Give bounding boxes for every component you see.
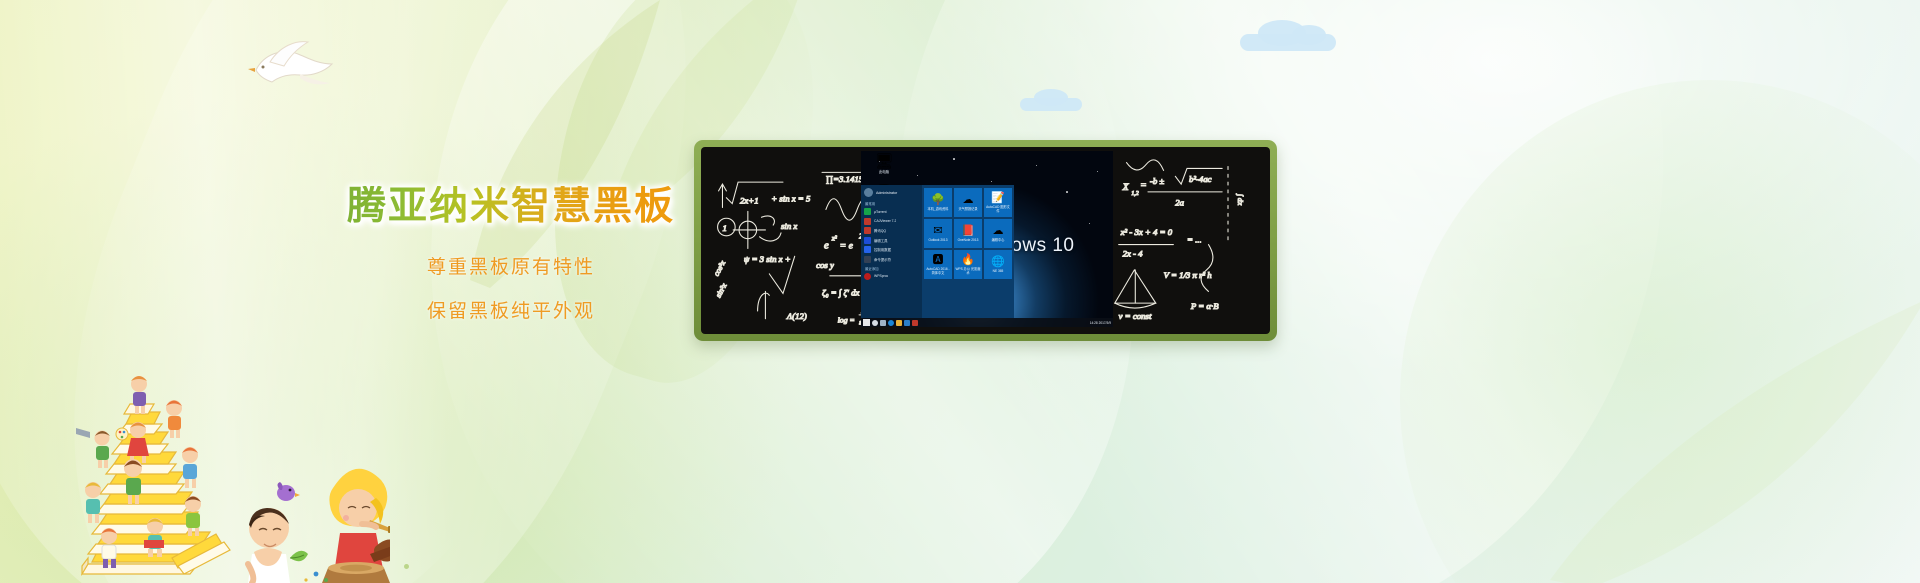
tile-glyph: ☁ — [993, 226, 1004, 237]
app-icon — [864, 208, 871, 215]
blackboard-screen: 2x+1 + sin x = 5 1 sin x cos²x sin²x ψ =… — [701, 147, 1270, 334]
mail-icon[interactable] — [912, 320, 918, 326]
windows-desktop: 🖥 此电脑 🗑 回收站 Windows 10 Administrator — [861, 151, 1113, 327]
tile-label: 天气预报记录 — [957, 207, 978, 211]
store-icon[interactable] — [904, 320, 910, 326]
svg-text:+ sin x = 5: + sin x = 5 — [771, 194, 811, 204]
kid-flutist — [322, 469, 390, 583]
start-menu-app-list: Administrator 最常用 µTorrent CAJViewer 7.2 — [861, 185, 922, 318]
tile-label: 编辑中心 — [991, 238, 1006, 242]
svg-text:log =: log = — [838, 316, 855, 325]
svg-text:v = const: v = const — [1119, 311, 1152, 321]
start-app-item[interactable]: CAJViewer 7.2 — [864, 218, 920, 225]
start-menu-tiles: 🌳 本机_游戏资料 ☁ 天气预报记录 📝 AutoCAD 图形文件 ✉ — [922, 185, 1014, 318]
app-group-title-1: 最近添加 — [865, 266, 920, 271]
svg-text:2a: 2a — [1175, 198, 1184, 208]
start-tile[interactable]: 🌐 NE 365 — [984, 250, 1012, 279]
svg-text:= e: = e — [840, 240, 854, 251]
app-label: 腾讯QQ — [874, 228, 886, 233]
promo-banner: 腾亚纳米智慧黑板 尊重黑板原有特性 保留黑板纯平外观 2x+1 + sin x … — [0, 0, 1920, 583]
tile-label: AutoCAD 图形文件 — [984, 205, 1012, 213]
svg-text:1: 1 — [722, 223, 726, 233]
dove-icon — [246, 34, 338, 90]
app-label: 命令提示符 — [874, 257, 891, 262]
computer-icon[interactable]: 🖥 此电脑 — [864, 153, 904, 175]
computer-glyph: 🖥 — [864, 153, 904, 170]
start-tile[interactable]: 🅰 AutoCAD 2016 - 简体中文 — [924, 250, 952, 279]
svg-text:2x - 4: 2x - 4 — [1123, 248, 1144, 258]
tile-glyph: 🌐 — [991, 257, 1005, 268]
tile-glyph: 🔥 — [961, 255, 975, 266]
svg-text:x² - 3x + 4 = 0: x² - 3x + 4 = 0 — [1120, 227, 1173, 237]
tile-label: OneNote 2013 — [957, 238, 980, 242]
subtitle-line-1: 尊重黑板原有特性 — [336, 257, 686, 280]
search-icon[interactable] — [872, 320, 878, 326]
app-label: 编辑工具 — [874, 238, 888, 243]
app-icon — [864, 218, 871, 225]
explorer-icon[interactable] — [896, 320, 902, 326]
tile-glyph: ☁ — [963, 195, 974, 206]
tile-glyph: ✉ — [933, 226, 942, 237]
svg-text:P = α·B: P = α·B — [1190, 301, 1219, 311]
tile-glyph: 🌳 — [931, 195, 945, 206]
kid-resting — [248, 508, 290, 583]
start-app-item[interactable]: µTorrent — [864, 208, 920, 215]
leaf-shape-right — [1550, 260, 1920, 583]
tile-label: WPS 办公 光影魔术 — [954, 267, 982, 275]
task-view-icon[interactable] — [880, 320, 886, 326]
account-name: Administrator — [876, 191, 897, 195]
svg-text:X: X — [1122, 182, 1130, 193]
decor-dot — [314, 572, 319, 577]
start-tile[interactable]: 🌳 本机_游戏资料 — [924, 188, 952, 217]
tile-label: AutoCAD 2016 - 简体中文 — [924, 267, 952, 275]
tile-glyph: 🅰 — [933, 255, 944, 266]
start-menu[interactable]: Administrator 最常用 µTorrent CAJViewer 7.2 — [861, 185, 1014, 318]
kid-teal — [85, 482, 101, 523]
svg-text:∫ dx: ∫ dx — [1236, 193, 1245, 206]
svg-text:sin²x: sin²x — [714, 281, 729, 299]
bird-icon — [277, 482, 300, 501]
svg-text:sin x: sin x — [781, 221, 797, 231]
start-tile[interactable]: ✉ Outlook 2013 — [924, 219, 952, 248]
app-label: CAJViewer 7.2 — [874, 219, 896, 223]
start-tile[interactable]: 📝 AutoCAD 图形文件 — [984, 188, 1012, 217]
start-tile[interactable]: 🔥 WPS 办公 光影魔术 — [954, 250, 982, 279]
svg-text:cos²x: cos²x — [712, 259, 728, 278]
children-and-books-illustration — [40, 368, 390, 583]
tile-label: 本机_游戏资料 — [927, 207, 950, 211]
app-label: 控制用数据 — [874, 247, 891, 252]
background-swoosh-5 — [1400, 80, 1920, 583]
subtitle-line-2: 保留黑板纯平外观 — [336, 301, 686, 324]
svg-text:V = 1/3 π r² h: V = 1/3 π r² h — [1164, 270, 1213, 280]
svg-text:= ...: = ... — [1187, 235, 1202, 245]
app-icon — [864, 237, 871, 244]
page-title: 腾亚纳米智慧黑板 — [336, 186, 686, 229]
app-label: µTorrent — [874, 210, 887, 214]
svg-text:ψ = 3 sin x +: ψ = 3 sin x + — [744, 254, 791, 264]
app-icon — [864, 227, 871, 234]
kid-telescope — [76, 428, 110, 468]
app-icon — [864, 246, 871, 253]
svg-text:Λ(12): Λ(12) — [786, 311, 807, 321]
decor-dot-floating — [404, 564, 409, 569]
kid-climbing — [182, 447, 198, 488]
tile-glyph: 📝 — [991, 193, 1005, 204]
text-block: 腾亚纳米智慧黑板 尊重黑板原有特性 保留黑板纯平外观 — [336, 186, 686, 323]
start-app-item[interactable]: WPSproc — [864, 273, 920, 280]
nano-smart-blackboard: 2x+1 + sin x = 5 1 sin x cos²x sin²x ψ =… — [694, 140, 1277, 341]
windows-start-icon[interactable] — [863, 319, 870, 326]
svg-text:2x+1: 2x+1 — [740, 196, 759, 206]
edge-icon[interactable] — [888, 320, 894, 326]
avatar — [864, 188, 873, 197]
svg-text:1,2: 1,2 — [1131, 191, 1138, 197]
computer-label: 此电脑 — [864, 170, 904, 175]
start-tile[interactable]: ☁ 编辑中心 — [984, 219, 1012, 248]
svg-text:b²-4ac: b²-4ac — [1189, 174, 1212, 184]
taskbar: 14:28 2017/3/9 — [861, 318, 1113, 327]
svg-text:e: e — [824, 239, 829, 251]
user-account[interactable]: Administrator — [864, 188, 920, 197]
start-app-item[interactable]: 腾讯QQ — [864, 227, 920, 234]
tile-label: Outlook 2013 — [928, 238, 949, 242]
start-app-item[interactable]: 控制用数据 — [864, 246, 920, 253]
app-icon — [864, 273, 871, 280]
decor-dot — [324, 578, 328, 582]
start-app-item[interactable]: 命令提示符 — [864, 256, 920, 263]
tile-label: NE 365 — [992, 269, 1005, 273]
leaf-sprig — [290, 551, 308, 561]
start-tile[interactable]: 📕 OneNote 2013 — [954, 219, 982, 248]
taskbar-clock: 14:28 2017/3/9 — [1090, 321, 1111, 325]
decor-dot — [304, 578, 307, 581]
app-icon — [864, 256, 871, 263]
start-app-item[interactable]: 编辑工具 — [864, 237, 920, 244]
svg-text:-b ±: -b ± — [1150, 176, 1164, 186]
app-label: WPSproc — [874, 274, 888, 278]
svg-text:x²: x² — [831, 236, 838, 243]
system-tray[interactable]: 14:28 2017/3/9 — [1090, 321, 1111, 325]
svg-text:cos y: cos y — [816, 260, 834, 270]
svg-text:=: = — [1140, 180, 1147, 191]
start-tile[interactable]: ☁ 天气预报记录 — [954, 188, 982, 217]
tile-glyph: 📕 — [961, 226, 975, 237]
app-group-title-0: 最常用 — [865, 201, 920, 206]
